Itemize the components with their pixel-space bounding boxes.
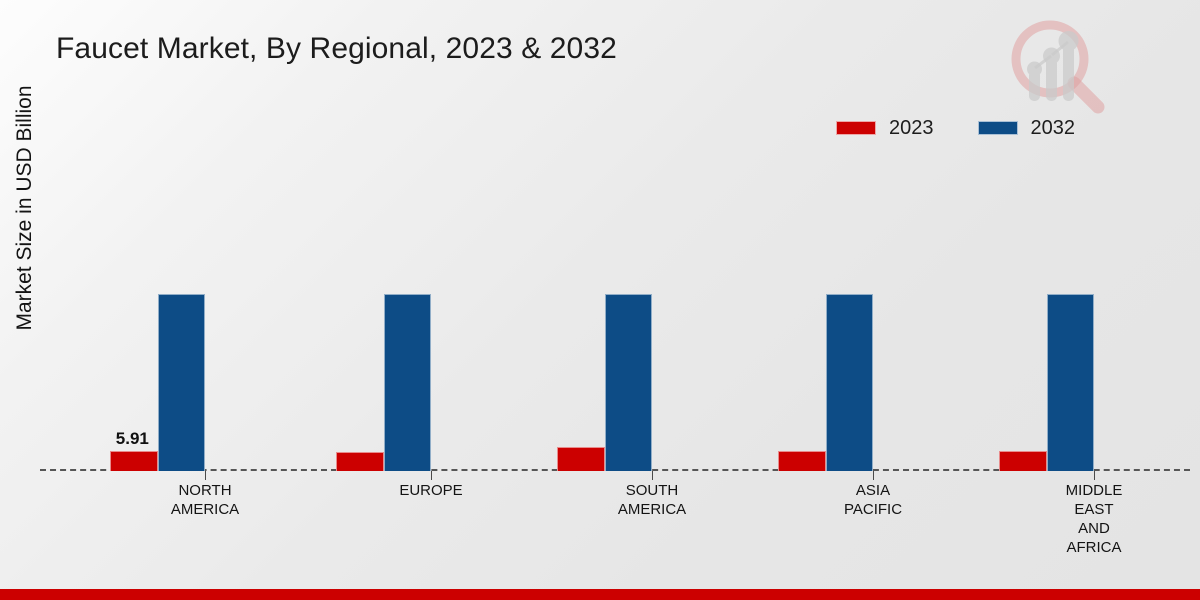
x-axis-label-europe: EUROPE — [346, 481, 516, 500]
bar-2032-asia-pacific[interactable] — [826, 294, 873, 471]
x-axis-label-line: ASIA — [788, 481, 958, 500]
bar-2023-middle-east-and-africa[interactable] — [999, 451, 1047, 471]
plot-area: 5.91 NORTH AMERICA EUROPE — [40, 150, 1190, 471]
chart-legend: 2023 2032 — [836, 118, 1075, 138]
x-axis-label-line: AND — [1009, 519, 1179, 538]
x-axis-label-line: PACIFIC — [788, 500, 958, 519]
watermark-logo-icon — [1002, 14, 1108, 114]
legend-label-2032: 2032 — [1031, 118, 1076, 138]
bar-value-label-north-america-2023: 5.91 — [116, 429, 149, 449]
bar-group-asia-pacific: ASIA PACIFIC — [778, 150, 942, 471]
x-axis-label-line: EUROPE — [346, 481, 516, 500]
x-axis-label-line: NORTH — [120, 481, 290, 500]
x-axis-tick-europe — [431, 471, 432, 480]
bar-2032-north-america[interactable] — [158, 294, 205, 471]
legend-swatch-2023 — [836, 121, 876, 135]
bar-2032-europe[interactable] — [384, 294, 431, 471]
bar-2023-north-america[interactable]: 5.91 — [110, 451, 158, 471]
x-axis-tick-north-america — [205, 471, 206, 480]
x-axis-label-line: AMERICA — [120, 500, 290, 519]
x-axis-label-middle-east-and-africa: MIDDLE EAST AND AFRICA — [1009, 481, 1179, 557]
legend-item-2023[interactable]: 2023 — [836, 118, 934, 138]
bar-group-middle-east-and-africa: MIDDLE EAST AND AFRICA — [999, 150, 1163, 471]
legend-swatch-2032 — [978, 121, 1018, 135]
bar-2023-south-america[interactable] — [557, 447, 605, 471]
bar-group-south-america: SOUTH AMERICA — [557, 150, 721, 471]
x-axis-label-south-america: SOUTH AMERICA — [567, 481, 737, 519]
x-axis-label-line: AFRICA — [1009, 538, 1179, 557]
x-axis-label-asia-pacific: ASIA PACIFIC — [788, 481, 958, 519]
bar-2032-south-america[interactable] — [605, 294, 652, 471]
x-axis-tick-asia-pacific — [873, 471, 874, 480]
bar-2032-middle-east-and-africa[interactable] — [1047, 294, 1094, 471]
x-axis-label-north-america: NORTH AMERICA — [120, 481, 290, 519]
bar-group-north-america: 5.91 NORTH AMERICA — [110, 150, 274, 471]
legend-item-2032[interactable]: 2032 — [978, 118, 1076, 138]
legend-label-2023: 2023 — [889, 118, 934, 138]
bar-2023-asia-pacific[interactable] — [778, 451, 826, 471]
x-axis-label-line: AMERICA — [567, 500, 737, 519]
bar-group-europe: EUROPE — [336, 150, 500, 471]
footer-accent-bar — [0, 589, 1200, 600]
page-title: Faucet Market, By Regional, 2023 & 2032 — [56, 32, 617, 66]
y-axis-label: Market Size in USD Billion — [13, 43, 37, 373]
x-axis-tick-middle-east-and-africa — [1094, 471, 1095, 480]
x-axis-label-line: MIDDLE — [1009, 481, 1179, 500]
x-axis-tick-south-america — [652, 471, 653, 480]
chart-canvas: Faucet Market, By Regional, 2023 & 2032 … — [0, 0, 1200, 600]
x-axis-label-line: SOUTH — [567, 481, 737, 500]
x-axis-label-line: EAST — [1009, 500, 1179, 519]
bar-2023-europe[interactable] — [336, 452, 384, 471]
